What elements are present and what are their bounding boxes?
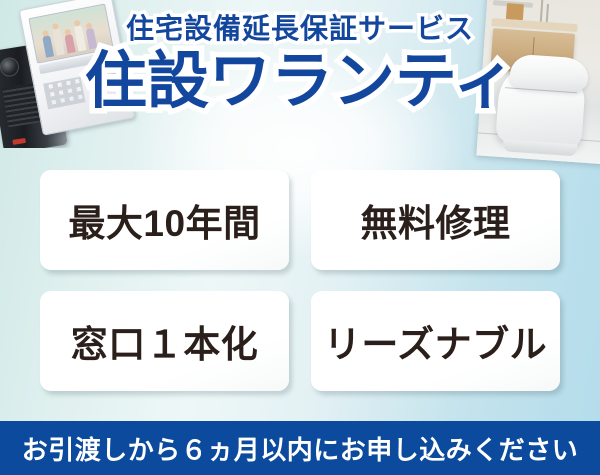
banner-subtitle: 住宅設備延長保証サービス	[0, 14, 600, 45]
headline-block: 住宅設備延長保証サービス 住設ワランティ	[0, 14, 600, 116]
feature-box-grid: 最大10年間 無料修理 窓口１本化 リーズナブル	[40, 170, 560, 391]
feature-label: 無料修理	[361, 193, 511, 247]
call-button-icon	[12, 138, 26, 145]
feature-box-max-years: 最大10年間	[40, 170, 289, 270]
promo-banner: 住宅設備延長保証サービス 住設ワランティ 最大10年間 無料修理 窓口１本化 リ…	[0, 0, 600, 475]
feature-box-single-contact: 窓口１本化	[40, 291, 289, 391]
feature-box-free-repair: 無料修理	[311, 170, 560, 270]
feature-label: 最大10年間	[68, 193, 260, 247]
feature-box-reasonable: リーズナブル	[311, 291, 560, 391]
banner-title: 住設ワランティ	[0, 49, 600, 116]
feature-label: リーズナブル	[324, 314, 547, 368]
cta-text: お引渡しから６ヵ月以内にお申し込みください	[22, 430, 579, 467]
feature-label: 窓口１本化	[71, 314, 259, 368]
cta-banner: お引渡しから６ヵ月以内にお申し込みください	[0, 421, 600, 475]
